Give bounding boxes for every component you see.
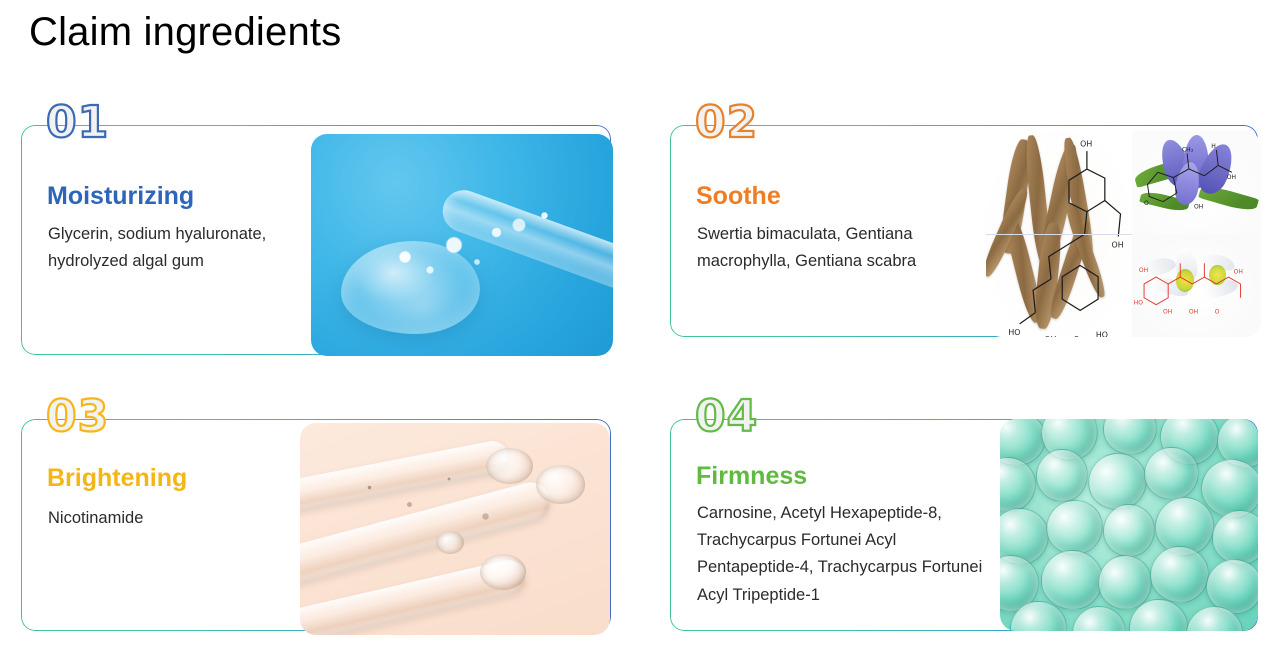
card-heading-03: Brightening (47, 465, 187, 493)
card-description-03: Nicotinamide (48, 505, 288, 532)
svg-text:OH: OH (1189, 308, 1198, 315)
svg-text:OH: OH (1044, 335, 1056, 337)
claim-ingredients-card-grid: 01 Moisturizing Glycerin, sodium hyaluro… (0, 0, 1280, 660)
svg-text:O: O (1073, 335, 1079, 337)
chemical-structure-overlay-3: OH HO OH OH O OH (1132, 234, 1261, 320)
card-number-04: 04 (695, 395, 758, 439)
svg-text:HO: HO (1096, 330, 1108, 337)
ingredient-card-01[interactable]: 01 Moisturizing Glycerin, sodium hyaluro… (21, 125, 611, 355)
svg-text:HO: HO (1133, 300, 1143, 307)
card-description-02: Swertia bimaculata, Gentiana macrophylla… (697, 221, 932, 275)
card-heading-02: Soothe (696, 183, 781, 211)
svg-text:OH: OH (1163, 308, 1172, 315)
card-description-01: Glycerin, sodium hyaluronate, hydrolyzed… (48, 221, 273, 275)
ingredient-card-03[interactable]: 03 Brightening Nicotinamide (21, 419, 611, 631)
card-image-01 (311, 134, 613, 356)
card-description-04: Carnosine, Acetyl Hexapeptide-8, Trachyc… (697, 500, 987, 609)
gel-bubbles-texture (300, 423, 610, 635)
gentian-flower-photo: CH₃ H OH O OH (1132, 131, 1261, 234)
card-number-02: 02 (695, 101, 758, 145)
svg-text:OH: OH (1194, 204, 1203, 211)
svg-text:OH: OH (1233, 269, 1242, 276)
collage-divider (986, 234, 1132, 235)
card-image-04 (1000, 419, 1258, 631)
gel-bubbles-texture (311, 134, 613, 356)
card-heading-01: Moisturizing (47, 183, 194, 211)
card-image-02: CH₃ H OH O OH (986, 131, 1261, 337)
svg-text:O: O (1214, 308, 1219, 315)
card-image-03 (300, 423, 610, 635)
ingredient-card-04[interactable]: 04 Firmness Carnosine, Acetyl Hexapeptid… (670, 419, 1258, 631)
card-heading-04: Firmness (696, 463, 807, 491)
swertia-flower-photo: OH HO OH OH O OH (1132, 234, 1261, 337)
card-number-01: 01 (46, 101, 109, 145)
svg-text:HO: HO (1008, 328, 1020, 337)
svg-text:OH: OH (1112, 241, 1124, 250)
ingredient-card-02[interactable]: 02 Soothe Swertia bimaculata, Gentiana m… (670, 125, 1258, 337)
svg-text:OH: OH (1080, 140, 1092, 149)
card-number-03: 03 (46, 395, 109, 439)
